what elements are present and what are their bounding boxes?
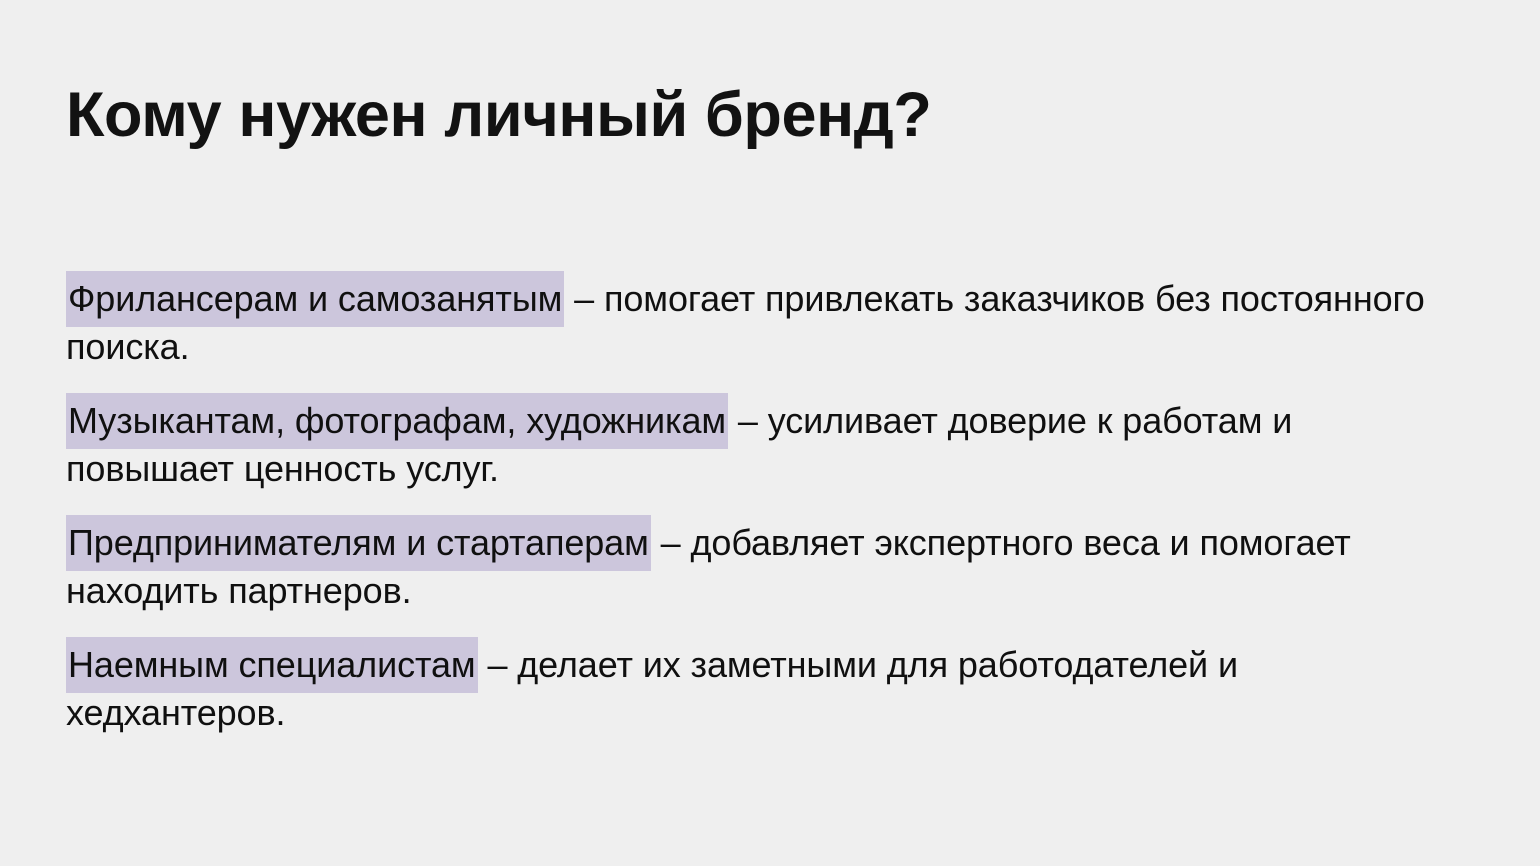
list-item-highlight: Наемным специалистам bbox=[66, 637, 478, 693]
slide-canvas: Кому нужен личный бренд? Фрилансерам и с… bbox=[0, 0, 1540, 866]
list-item: Предпринимателям и стартаперам – добавля… bbox=[66, 519, 1438, 615]
bullet-list: Фрилансерам и самозанятым – помогает при… bbox=[66, 275, 1438, 737]
page-title: Кому нужен личный бренд? bbox=[66, 82, 931, 149]
list-item-highlight: Музыкантам, фотографам, художникам bbox=[66, 393, 728, 449]
list-item: Наемным специалистам – делает их заметны… bbox=[66, 641, 1438, 737]
list-item-highlight: Фрилансерам и самозанятым bbox=[66, 271, 564, 327]
list-item: Фрилансерам и самозанятым – помогает при… bbox=[66, 275, 1438, 371]
list-item-highlight: Предпринимателям и стартаперам bbox=[66, 515, 651, 571]
list-item: Музыкантам, фотографам, художникам – уси… bbox=[66, 397, 1438, 493]
